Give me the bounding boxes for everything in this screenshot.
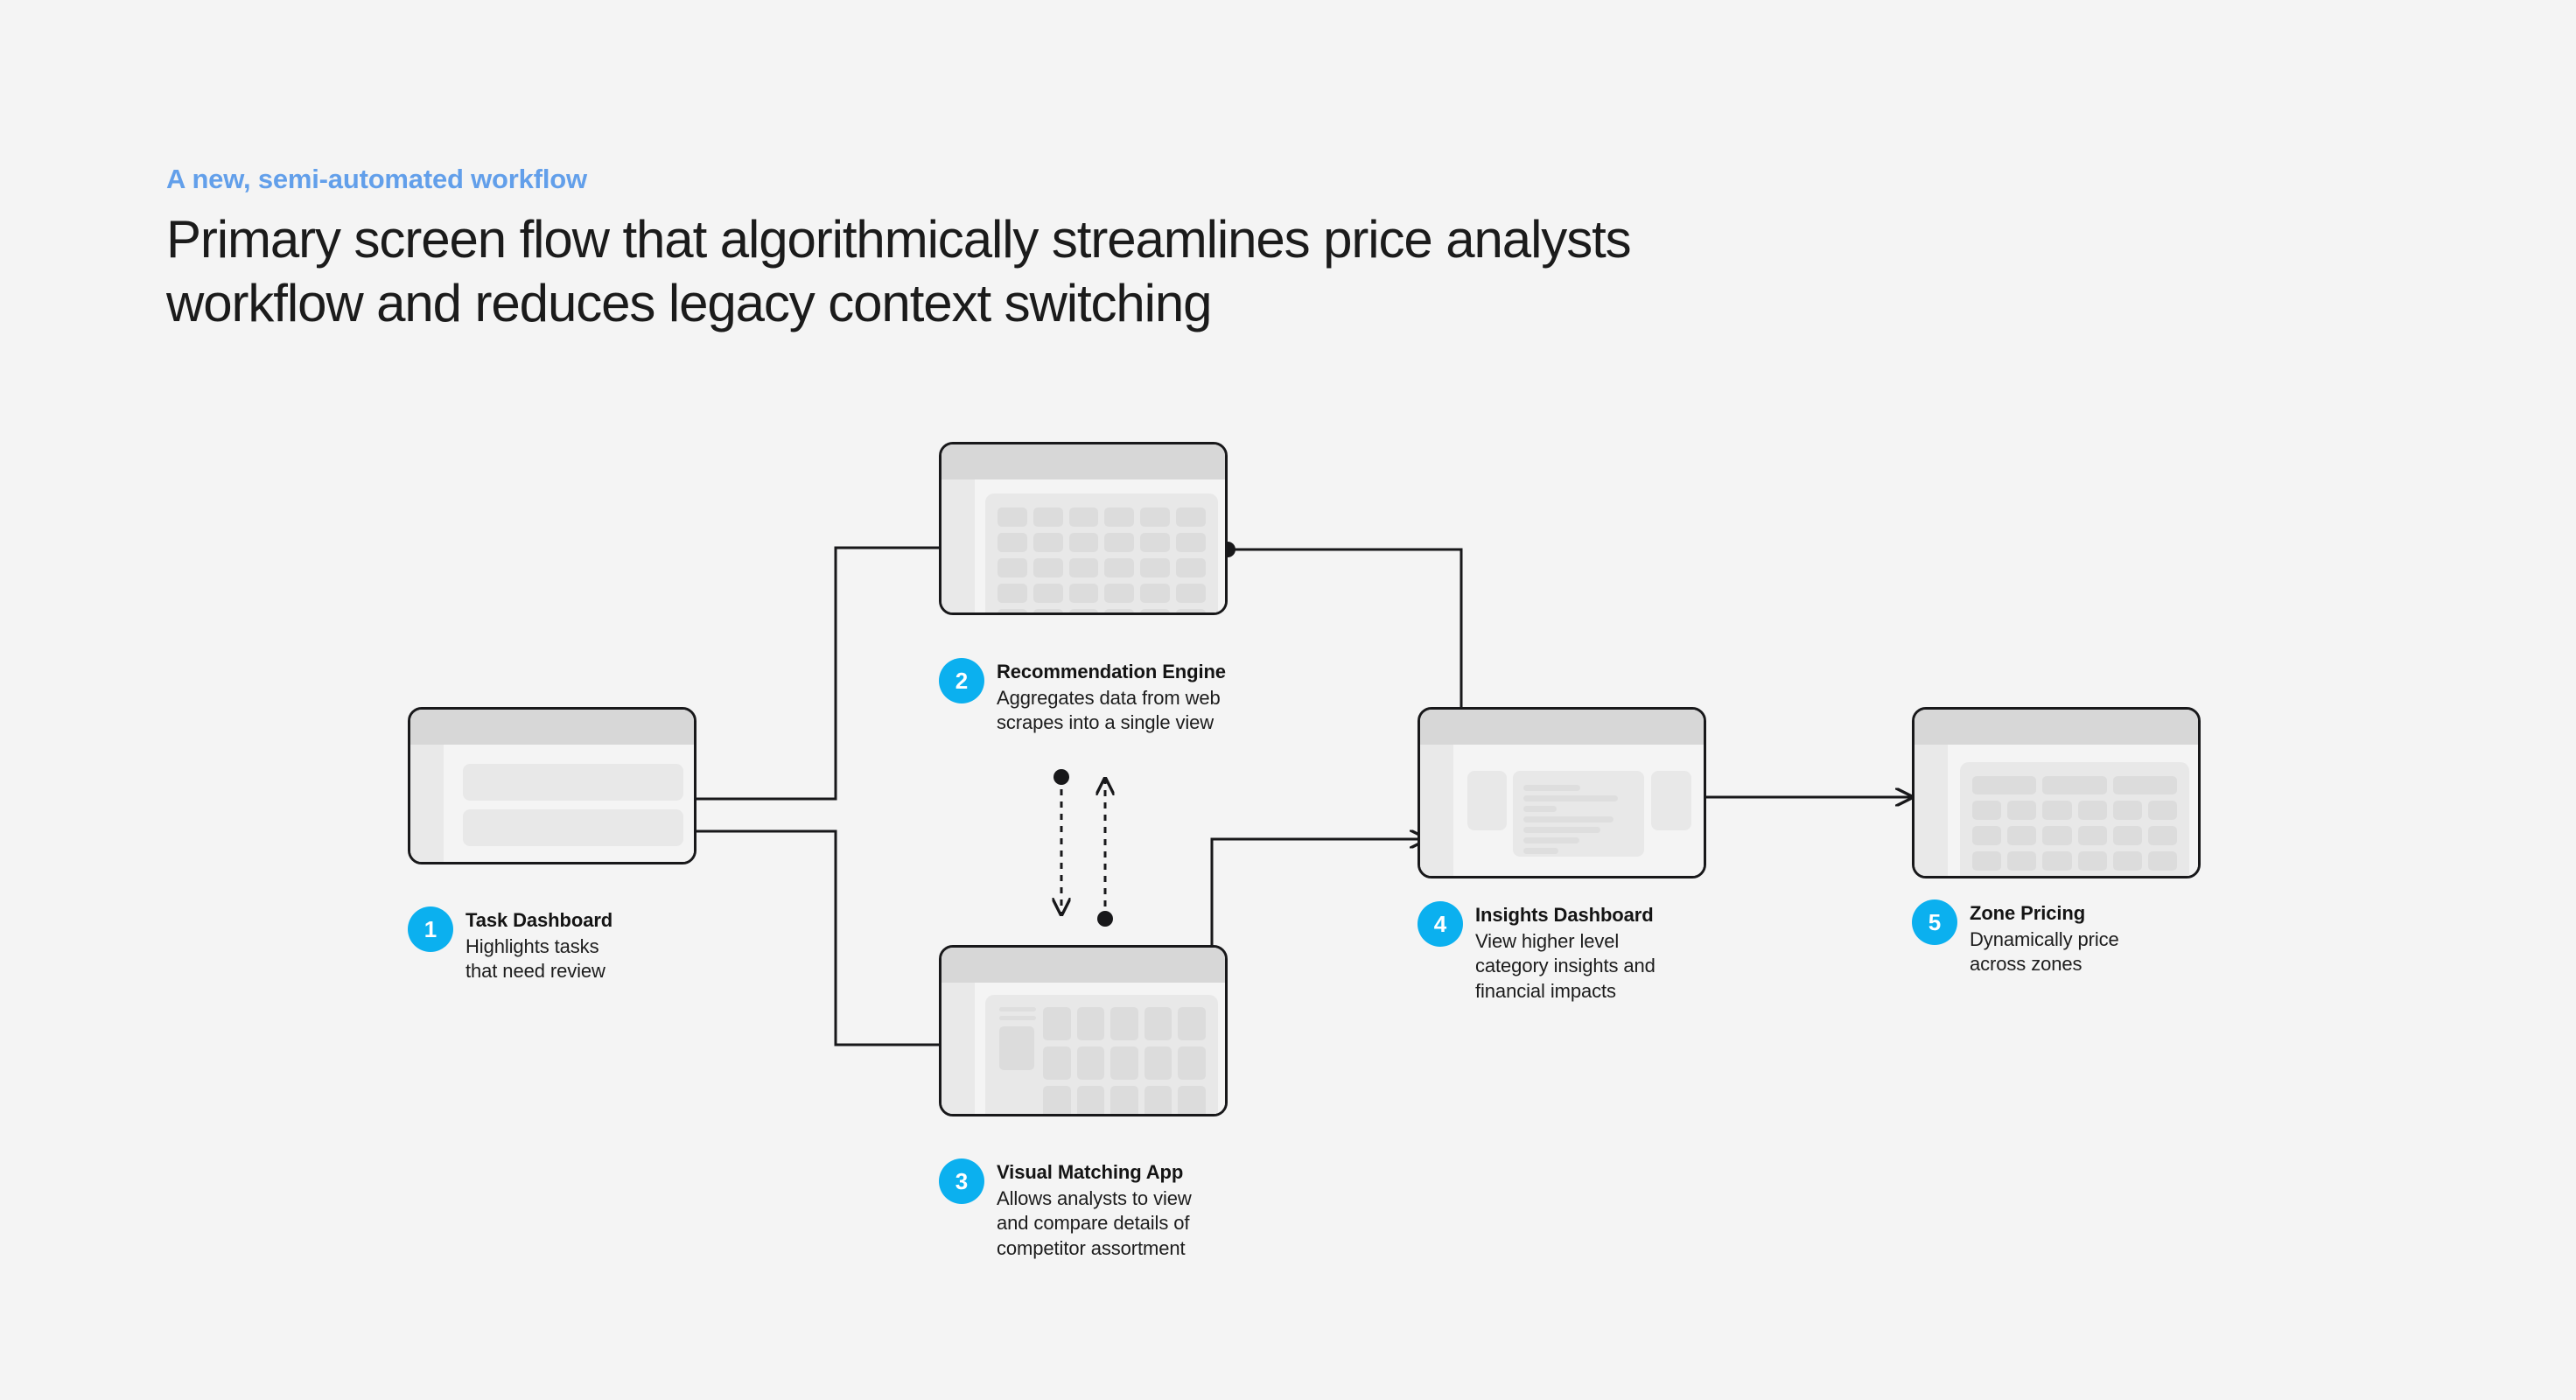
table-cell bbox=[1104, 609, 1134, 615]
price-cell bbox=[2007, 801, 2036, 820]
page-header: A new, semi-automated workflow Primary s… bbox=[166, 163, 1829, 336]
price-cell bbox=[2078, 801, 2107, 820]
window-titlebar bbox=[941, 444, 1225, 479]
task-row-1 bbox=[463, 764, 683, 801]
price-cell bbox=[2042, 877, 2071, 878]
price-cell bbox=[2007, 877, 2036, 878]
price-cell bbox=[2078, 851, 2107, 871]
caption-task-dashboard: 1 Task Dashboard Highlights tasks that n… bbox=[408, 906, 705, 984]
tile bbox=[1144, 1086, 1172, 1116]
window-sidebar bbox=[941, 983, 975, 1114]
window-body bbox=[444, 745, 694, 862]
table-cell bbox=[997, 584, 1027, 603]
table-cell bbox=[1033, 558, 1063, 577]
zone-header-cell bbox=[2042, 776, 2106, 794]
caption-title-3: Visual Matching App bbox=[997, 1160, 1192, 1185]
price-cell bbox=[2148, 801, 2177, 820]
window-body bbox=[1948, 745, 2198, 876]
price-cell bbox=[1972, 826, 2001, 845]
node-task-dashboard[interactable] bbox=[408, 707, 696, 864]
tile bbox=[1110, 1046, 1138, 1080]
table-cell bbox=[1069, 533, 1099, 552]
price-cell bbox=[2042, 851, 2071, 871]
step-badge-4: 4 bbox=[1417, 901, 1463, 947]
window-sidebar bbox=[1914, 745, 1948, 876]
caption-desc-1: Highlights tasks that need review bbox=[465, 934, 612, 984]
table-cell bbox=[1033, 584, 1063, 603]
table-cell bbox=[1069, 609, 1099, 615]
table-cell bbox=[1104, 558, 1134, 577]
caption-desc-5: Dynamically price across zones bbox=[1970, 927, 2119, 977]
tile bbox=[1178, 1007, 1206, 1040]
zone-header-cell bbox=[1972, 776, 2036, 794]
detail-line-1 bbox=[999, 1007, 1036, 1011]
price-cell bbox=[2078, 826, 2107, 845]
price-cell bbox=[2007, 851, 2036, 871]
window-titlebar bbox=[1420, 710, 1704, 745]
compare-panel bbox=[985, 995, 1218, 1116]
table-cell bbox=[1069, 558, 1099, 577]
window-body bbox=[975, 983, 1225, 1114]
insight-line bbox=[1523, 837, 1579, 843]
table-cell bbox=[1176, 558, 1206, 577]
price-cell bbox=[1972, 877, 2001, 878]
table-cell bbox=[1033, 533, 1063, 552]
tile-grid bbox=[1043, 1007, 1206, 1116]
connector-recommendation-engine-to-visual-matching-app bbox=[1053, 769, 1069, 914]
tile bbox=[1110, 1086, 1138, 1116]
price-cell bbox=[2042, 826, 2071, 845]
price-cell bbox=[2007, 826, 2036, 845]
tile bbox=[1144, 1046, 1172, 1080]
window-titlebar bbox=[941, 948, 1225, 983]
table-cell bbox=[1140, 533, 1170, 552]
page-title: Primary screen flow that algorithmically… bbox=[166, 207, 1706, 335]
table-cell bbox=[1140, 507, 1170, 527]
insight-line bbox=[1523, 827, 1600, 833]
price-cell bbox=[2148, 826, 2177, 845]
caption-zone-pricing: 5 Zone Pricing Dynamically price across … bbox=[1912, 899, 2227, 977]
table-cell bbox=[1069, 584, 1099, 603]
table-cell bbox=[1140, 584, 1170, 603]
tile bbox=[1043, 1046, 1071, 1080]
pricing-header-row bbox=[1972, 776, 2177, 794]
insight-line bbox=[1523, 795, 1618, 801]
insight-line bbox=[1523, 848, 1558, 854]
tile bbox=[1077, 1007, 1105, 1040]
tile bbox=[1178, 1046, 1206, 1080]
pricing-panel bbox=[1960, 762, 2189, 878]
table-cell bbox=[997, 609, 1027, 615]
caption-desc-3: Allows analysts to view and compare deta… bbox=[997, 1186, 1192, 1262]
task-row-2 bbox=[463, 809, 683, 846]
table-cell bbox=[1069, 507, 1099, 527]
table-grid bbox=[997, 507, 1206, 615]
detail-line-2 bbox=[999, 1016, 1036, 1020]
caption-insights-dashboard: 4 Insights Dashboard View higher level c… bbox=[1417, 901, 1732, 1004]
insight-line bbox=[1523, 806, 1557, 812]
tile bbox=[1043, 1086, 1071, 1116]
connector-task-dashboard-to-recommendation-engine bbox=[672, 548, 958, 807]
table-cell bbox=[997, 533, 1027, 552]
caption-recommendation-engine: 2 Recommendation Engine Aggregates data … bbox=[939, 658, 1254, 736]
node-visual-matching-app[interactable] bbox=[939, 945, 1228, 1116]
price-cell bbox=[2148, 877, 2177, 878]
caption-visual-matching-app: 3 Visual Matching App Allows analysts to… bbox=[939, 1158, 1254, 1262]
window-titlebar bbox=[1914, 710, 2198, 745]
node-recommendation-engine[interactable] bbox=[939, 442, 1228, 615]
tile bbox=[1077, 1046, 1105, 1080]
detail-thumbnail bbox=[999, 1026, 1034, 1070]
price-cell bbox=[2078, 877, 2107, 878]
step-badge-2: 2 bbox=[939, 658, 984, 703]
table-cell bbox=[1176, 533, 1206, 552]
tile bbox=[1043, 1007, 1071, 1040]
caption-desc-4: View higher level category insights and … bbox=[1475, 929, 1655, 1004]
window-body bbox=[975, 479, 1225, 612]
caption-title-5: Zone Pricing bbox=[1970, 901, 2119, 926]
table-cell bbox=[1033, 507, 1063, 527]
eyebrow-label: A new, semi-automated workflow bbox=[166, 163, 1829, 195]
insight-line bbox=[1523, 816, 1613, 822]
table-cell bbox=[997, 507, 1027, 527]
connector-task-dashboard-to-visual-matching-app bbox=[672, 823, 958, 1045]
connector-recommendation-engine-to-insights-dashboard bbox=[1220, 542, 1461, 726]
price-cell bbox=[2042, 801, 2071, 820]
pricing-grid bbox=[1972, 801, 2177, 878]
tile bbox=[1110, 1007, 1138, 1040]
tile bbox=[1144, 1007, 1172, 1040]
table-cell bbox=[1033, 609, 1063, 615]
caption-desc-2: Aggregates data from web scrapes into a … bbox=[997, 686, 1226, 736]
step-badge-5: 5 bbox=[1912, 899, 1957, 945]
price-cell bbox=[2113, 801, 2142, 820]
zone-header-cell bbox=[2113, 776, 2177, 794]
price-cell bbox=[1972, 851, 2001, 871]
connector-insights-dashboard-to-zone-pricing bbox=[1683, 789, 1912, 805]
table-cell bbox=[1140, 558, 1170, 577]
window-sidebar bbox=[410, 745, 444, 862]
table-panel bbox=[985, 493, 1218, 615]
tile bbox=[1178, 1086, 1206, 1116]
table-cell bbox=[1176, 584, 1206, 603]
right-metric-block bbox=[1651, 771, 1691, 830]
table-cell bbox=[1176, 609, 1206, 615]
step-badge-3: 3 bbox=[939, 1158, 984, 1204]
insight-line bbox=[1523, 785, 1580, 791]
table-cell bbox=[1104, 507, 1134, 527]
window-titlebar bbox=[410, 710, 694, 745]
caption-title-4: Insights Dashboard bbox=[1475, 903, 1655, 927]
price-cell bbox=[2113, 851, 2142, 871]
tile bbox=[1077, 1086, 1105, 1116]
window-sidebar bbox=[941, 479, 975, 612]
table-cell bbox=[1104, 584, 1134, 603]
left-metric-block bbox=[1467, 771, 1507, 830]
caption-title-2: Recommendation Engine bbox=[997, 660, 1226, 684]
insight-detail-panel bbox=[1513, 771, 1644, 857]
caption-title-1: Task Dashboard bbox=[465, 908, 612, 933]
price-cell bbox=[1972, 801, 2001, 820]
table-cell bbox=[1176, 507, 1206, 527]
connector-visual-matching-app-to-insights-dashboard bbox=[1204, 839, 1426, 965]
table-cell bbox=[1140, 609, 1170, 615]
price-cell bbox=[2148, 851, 2177, 871]
node-insights-dashboard[interactable] bbox=[1417, 707, 1706, 878]
window-sidebar bbox=[1420, 745, 1453, 876]
window-body bbox=[1453, 745, 1704, 876]
table-cell bbox=[997, 558, 1027, 577]
node-zone-pricing[interactable] bbox=[1912, 707, 2201, 878]
step-badge-1: 1 bbox=[408, 906, 453, 952]
price-cell bbox=[2113, 877, 2142, 878]
table-cell bbox=[1104, 533, 1134, 552]
connector-visual-matching-app-to-recommendation-engine bbox=[1097, 779, 1113, 927]
price-cell bbox=[2113, 826, 2142, 845]
